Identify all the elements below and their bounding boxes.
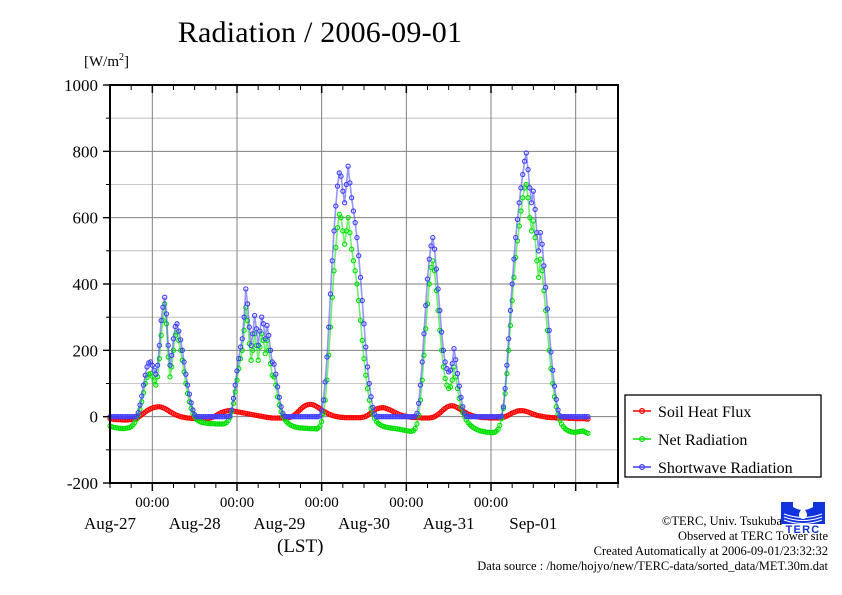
x-tick-time-label: 00:00: [389, 495, 423, 511]
radiation-plot: 10008006004002000-200 00:0000:0000:0000:…: [0, 0, 842, 595]
legend: Soil Heat FluxNet RadiationShortwave Rad…: [625, 395, 821, 477]
legend-label: Soil Heat Flux: [658, 404, 751, 421]
x-tick-time-label: 00:00: [135, 495, 169, 511]
footer-datasource: Data source : /home/hojyo/new/TERC-data/…: [477, 559, 828, 574]
grid-layer: [110, 85, 618, 483]
series-line-2: [110, 153, 588, 417]
terc-logo: TERC: [779, 502, 827, 535]
x-tick-date-label: Sep-01: [509, 514, 557, 533]
svg-text:TERC: TERC: [786, 524, 821, 535]
x-tick-date-label: Aug-28: [169, 514, 221, 533]
x-tick-time-label: 00:00: [305, 495, 339, 511]
y-tick-label: -200: [67, 474, 98, 493]
y-tick-label: 600: [73, 209, 99, 228]
x-tick-date-label: Aug-27: [84, 514, 136, 533]
y-tick-label: 1000: [64, 76, 98, 95]
x-tick-time-label: 00:00: [474, 495, 508, 511]
x-tick-date-label: Aug-29: [253, 514, 305, 533]
x-tick-date-label: Aug-31: [423, 514, 475, 533]
y-tick-label: 0: [90, 408, 99, 427]
y-tick-label: 200: [73, 341, 99, 360]
series-layer: [108, 151, 590, 435]
series-line-1: [110, 185, 588, 434]
chart-page: Radiation / 2006-09-01 [W/m2] (LST) 1000…: [0, 0, 842, 595]
y-tick-label: 400: [73, 275, 99, 294]
x-tick-time-label: 00:00: [220, 495, 254, 511]
y-tick-label: 800: [73, 142, 99, 161]
legend-label: Shortwave Radiation: [658, 460, 793, 477]
footer-created: Created Automatically at 2006-09-01/23:3…: [594, 544, 828, 559]
footer-copyright: ©TERC, Univ. Tsukuba: [662, 514, 782, 529]
y-axis-ticks: 10008006004002000-200: [64, 76, 110, 493]
legend-label: Net Radiation: [658, 432, 747, 449]
x-tick-date-label: Aug-30: [338, 514, 390, 533]
